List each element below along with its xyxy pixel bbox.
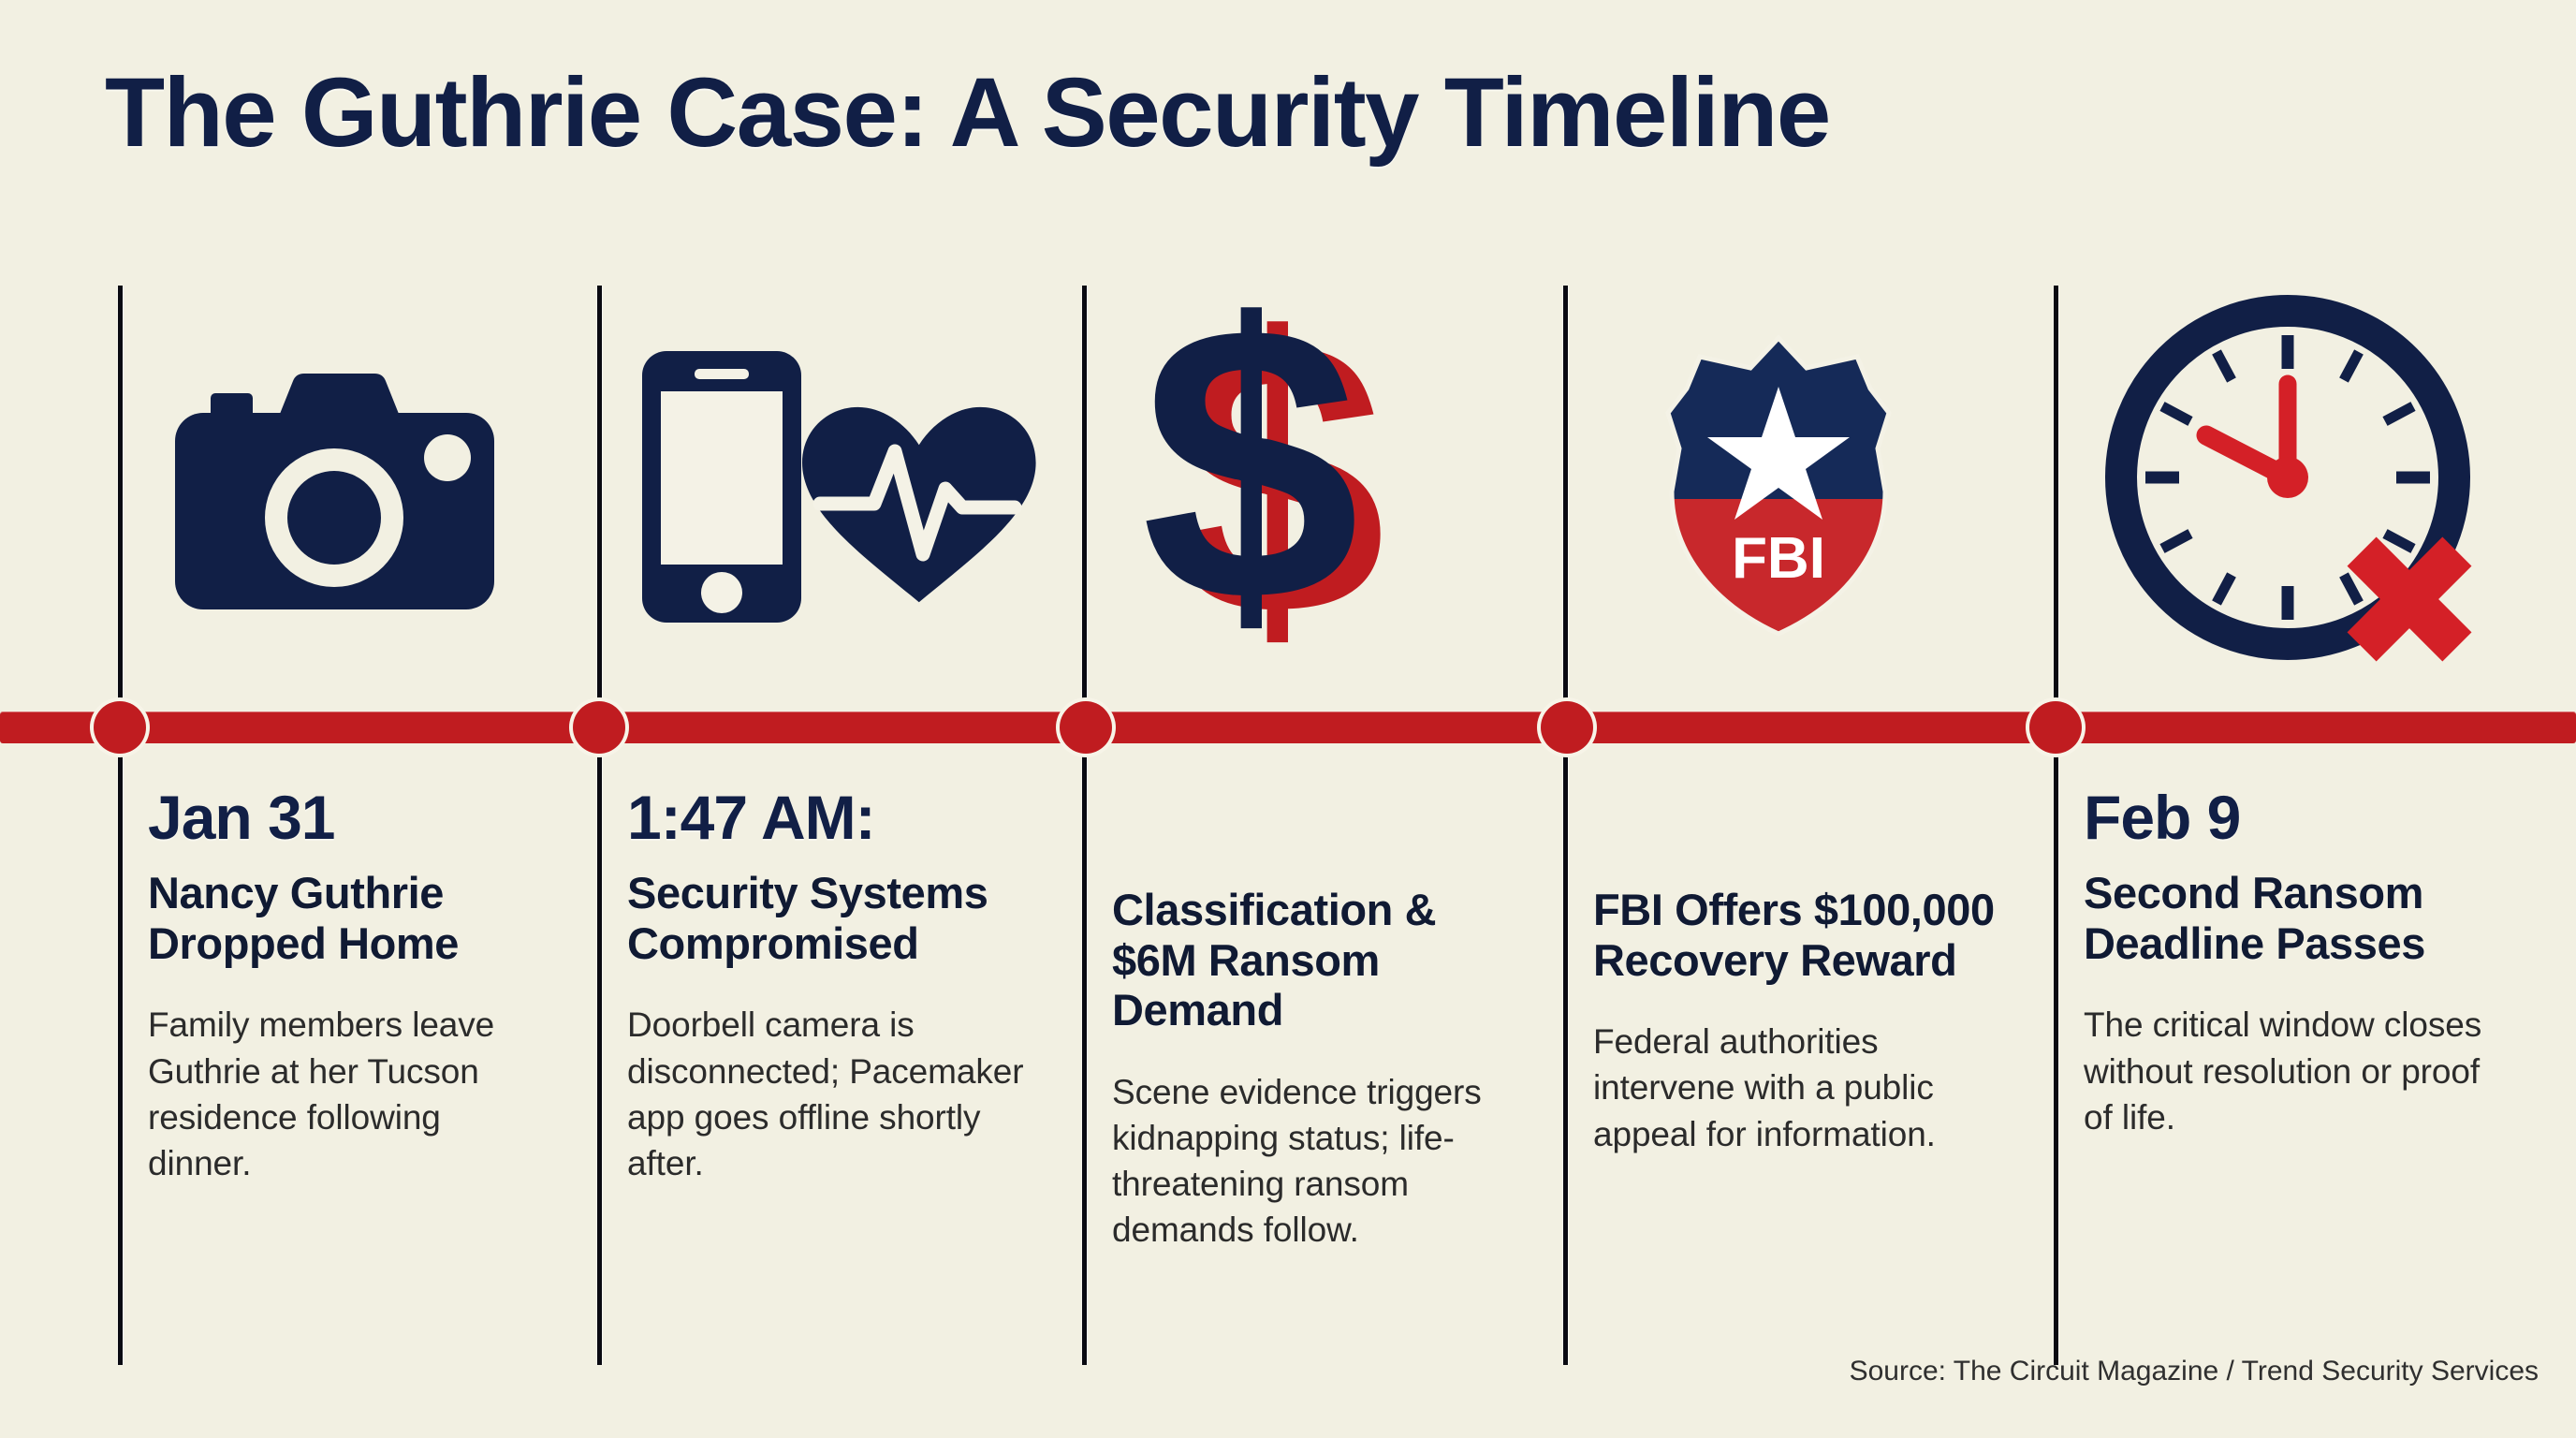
- heart-pulse-icon: [802, 407, 1036, 602]
- timeline-dot-2[interactable]: [573, 701, 625, 754]
- timeline-dot-5[interactable]: [2029, 701, 2082, 754]
- column-divider-3: [1082, 286, 1087, 1365]
- timeline-rail: [0, 712, 2576, 743]
- source-attribution: Source: The Circuit Magazine / Trend Sec…: [1850, 1356, 2539, 1387]
- column-divider-5: [2054, 286, 2058, 1365]
- entry-date-2: 1:47 AM:: [627, 786, 1046, 849]
- entry-body-2: Doorbell camera is disconnected; Pacemak…: [627, 1002, 1046, 1186]
- column-divider-2: [597, 286, 602, 1365]
- svg-text:$: $: [1141, 244, 1360, 683]
- clock-deadline-icon: [2100, 290, 2494, 683]
- icon-slot-2: [637, 281, 1067, 693]
- timeline-dot-1[interactable]: [94, 701, 146, 754]
- fbi-badge-label: FBI: [1732, 526, 1825, 591]
- page-title: The Guthrie Case: A Security Timeline: [105, 64, 1830, 162]
- entry-date-5: Feb 9: [2084, 786, 2505, 849]
- entry-headline-5: Second Ransom Deadline Passes: [2084, 868, 2505, 968]
- red-x-icon: [2314, 504, 2505, 695]
- icon-slot-3: $ $: [1137, 281, 1549, 693]
- camera-icon: [173, 360, 496, 613]
- entry-headline-2: Security Systems Compromised: [627, 868, 1046, 968]
- column-divider-4: [1563, 286, 1568, 1365]
- timeline-entry-5: Feb 9 Second Ransom Deadline Passes The …: [2084, 786, 2505, 1140]
- phone-heartbeat-group: [637, 346, 1048, 627]
- column-divider-1: [118, 286, 123, 1365]
- entry-body-1: Family members leave Guthrie at her Tucs…: [148, 1002, 541, 1186]
- entry-body-4: Federal authorities intervene with a pub…: [1593, 1019, 2012, 1157]
- infographic-canvas: The Guthrie Case: A Security Timeline: [0, 0, 2576, 1438]
- icon-slot-4: FBI: [1657, 281, 2050, 693]
- smartphone-icon: [642, 351, 801, 623]
- icon-slot-1: [173, 281, 585, 693]
- timeline-dot-4[interactable]: [1541, 701, 1593, 754]
- entry-date-1: Jan 31: [148, 786, 541, 849]
- timeline-entry-1: Jan 31 Nancy Guthrie Dropped Home Family…: [148, 786, 541, 1186]
- fbi-badge-icon: FBI: [1657, 332, 1900, 641]
- timeline-entry-4: FBI Offers $100,000 Recovery Reward Fede…: [1593, 885, 2012, 1157]
- timeline-dot-3[interactable]: [1060, 701, 1112, 754]
- dollar-sign-icon: $ $: [1137, 290, 1474, 683]
- entry-headline-3: Classification & $6M Ransom Demand: [1112, 885, 1524, 1035]
- entry-headline-4: FBI Offers $100,000 Recovery Reward: [1593, 885, 2012, 985]
- entry-body-3: Scene evidence triggers kidnapping statu…: [1112, 1069, 1524, 1254]
- icon-slot-5: [2100, 281, 2531, 693]
- timeline-entry-2: 1:47 AM: Security Systems Compromised Do…: [627, 786, 1046, 1186]
- entry-body-5: The critical window closes without resol…: [2084, 1002, 2505, 1140]
- timeline-entry-3: Classification & $6M Ransom Demand Scene…: [1112, 885, 1524, 1254]
- entry-headline-1: Nancy Guthrie Dropped Home: [148, 868, 541, 968]
